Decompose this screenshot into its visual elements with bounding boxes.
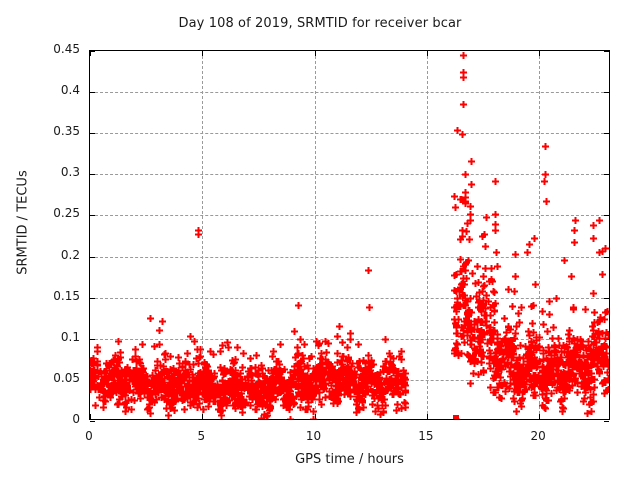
x-tick-mark xyxy=(202,414,203,419)
y-tick-mark xyxy=(604,51,609,52)
x-tick-mark xyxy=(315,414,316,419)
gridline-vertical xyxy=(427,51,428,419)
gridline-horizontal xyxy=(90,298,609,299)
y-tick-mark xyxy=(90,339,95,340)
y-tick-mark xyxy=(90,380,95,381)
x-tick-label: 20 xyxy=(508,429,568,443)
y-tick-label: 0.2 xyxy=(0,248,80,262)
y-tick-mark xyxy=(90,133,95,134)
y-tick-label: 0.35 xyxy=(0,124,80,138)
gridline-horizontal xyxy=(90,257,609,258)
y-tick-mark xyxy=(604,257,609,258)
y-tick-label: 0.05 xyxy=(0,371,80,385)
y-tick-mark xyxy=(90,257,95,258)
x-axis-label: GPS time / hours xyxy=(89,452,610,467)
x-tick-label: 10 xyxy=(284,429,344,443)
zero-level-marker-block xyxy=(453,415,459,419)
y-tick-mark xyxy=(604,92,609,93)
y-tick-mark xyxy=(604,298,609,299)
y-tick-mark xyxy=(90,421,95,422)
gridline-horizontal xyxy=(90,174,609,175)
gridline-vertical xyxy=(202,51,203,419)
y-tick-mark xyxy=(604,339,609,340)
y-tick-mark xyxy=(604,421,609,422)
y-tick-label: 0.3 xyxy=(0,165,80,179)
scatter-plot-figure: Day 108 of 2019, SRMTID for receiver bca… xyxy=(0,0,640,480)
gridline-horizontal xyxy=(90,92,609,93)
x-tick-label: 0 xyxy=(59,429,119,443)
gridline-vertical xyxy=(539,51,540,419)
plot-area xyxy=(89,50,610,420)
y-tick-label: 0.1 xyxy=(0,330,80,344)
gridline-horizontal xyxy=(90,380,609,381)
x-tick-mark xyxy=(539,414,540,419)
x-tick-mark xyxy=(202,51,203,56)
x-tick-mark xyxy=(90,51,91,56)
y-tick-mark xyxy=(604,380,609,381)
x-tick-mark xyxy=(427,414,428,419)
y-tick-mark xyxy=(604,174,609,175)
y-tick-mark xyxy=(90,215,95,216)
y-tick-label: 0.45 xyxy=(0,42,80,56)
x-tick-mark xyxy=(427,51,428,56)
x-tick-label: 15 xyxy=(396,429,456,443)
x-tick-label: 5 xyxy=(171,429,231,443)
gridline-horizontal xyxy=(90,339,609,340)
y-tick-mark xyxy=(90,92,95,93)
data-points-layer xyxy=(90,51,609,419)
y-tick-mark xyxy=(90,298,95,299)
x-tick-mark xyxy=(90,414,91,419)
y-tick-mark xyxy=(604,215,609,216)
page-title: Day 108 of 2019, SRMTID for receiver bca… xyxy=(0,16,640,31)
gridline-horizontal xyxy=(90,133,609,134)
gridline-vertical xyxy=(315,51,316,419)
y-tick-mark xyxy=(90,174,95,175)
scatter-markers xyxy=(90,52,609,419)
x-tick-mark xyxy=(315,51,316,56)
x-tick-mark xyxy=(539,51,540,56)
y-tick-label: 0 xyxy=(0,412,80,426)
gridline-horizontal xyxy=(90,215,609,216)
y-tick-label: 0.4 xyxy=(0,83,80,97)
y-tick-mark xyxy=(604,133,609,134)
y-tick-label: 0.15 xyxy=(0,289,80,303)
y-tick-label: 0.25 xyxy=(0,206,80,220)
